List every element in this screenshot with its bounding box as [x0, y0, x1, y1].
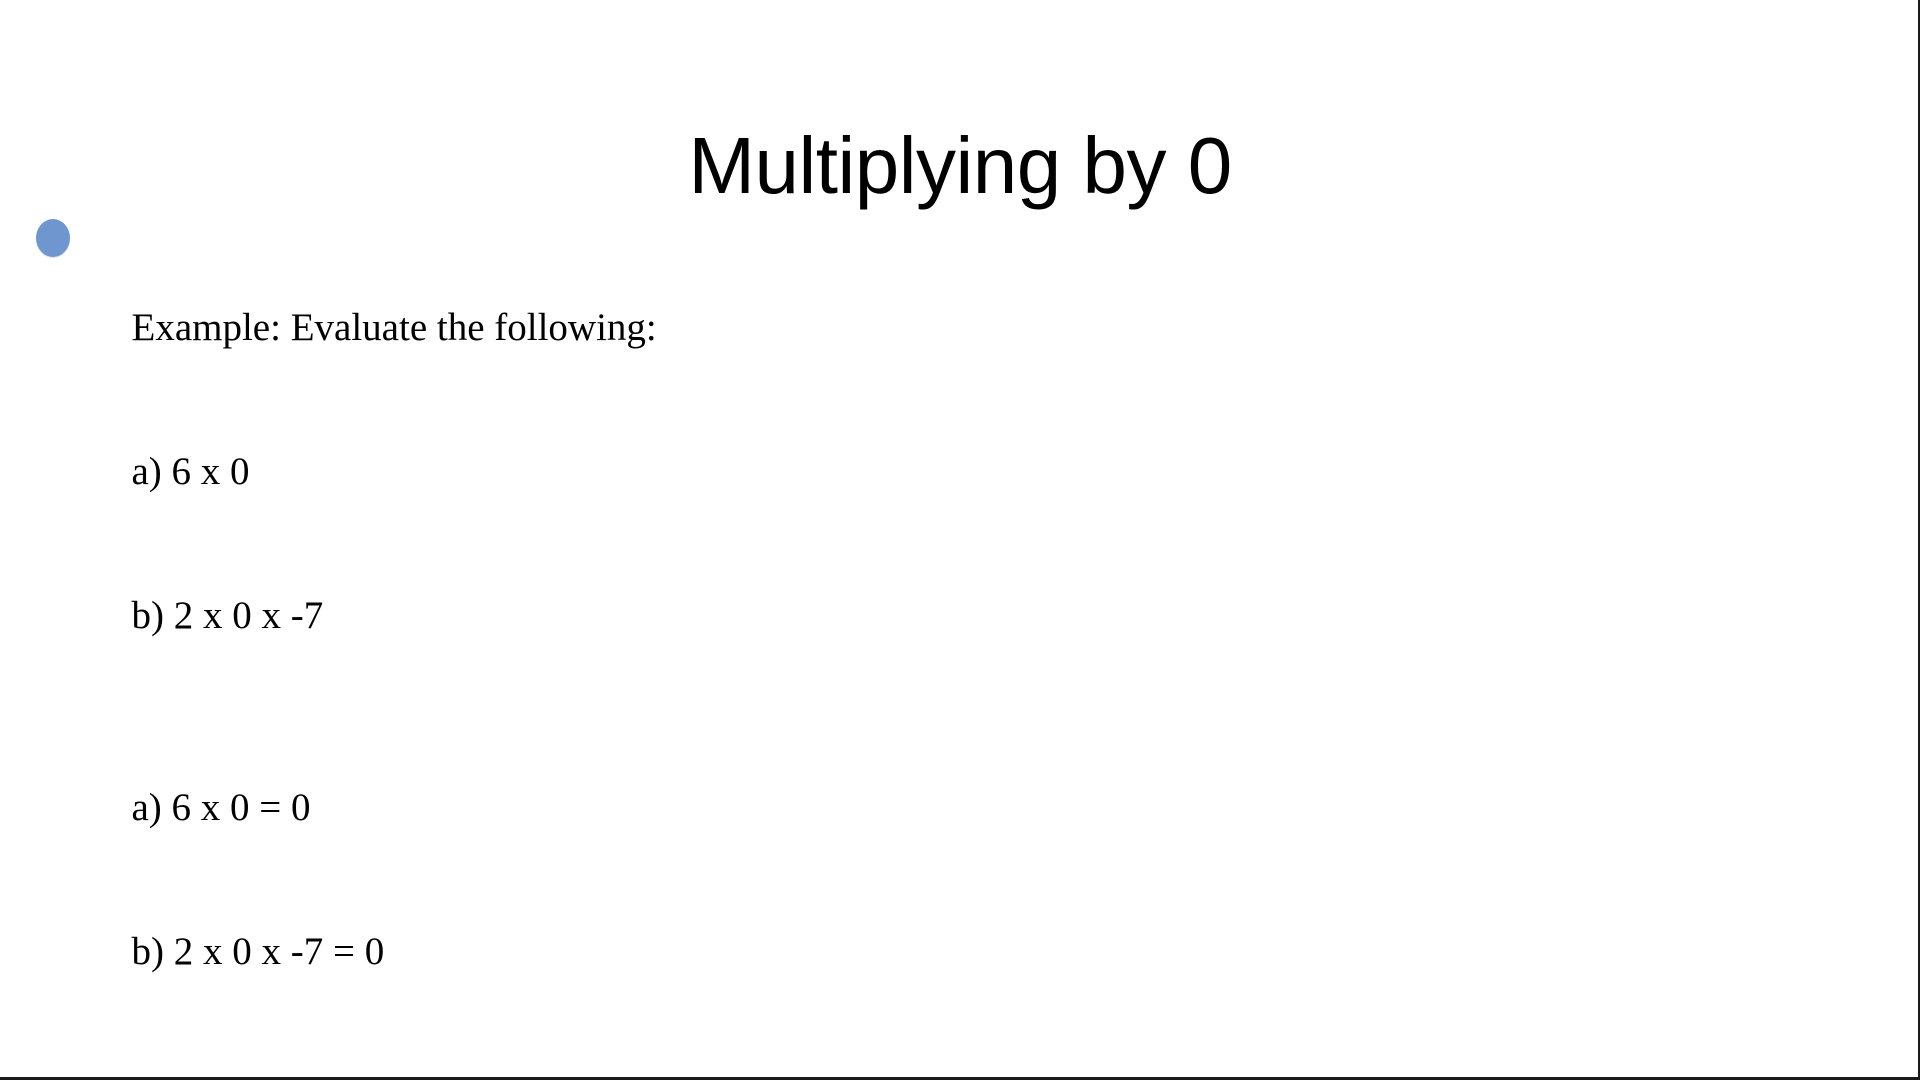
body-line-text: a) 6 x 0 = 0 [132, 784, 311, 832]
body-line-bulleted[interactable]: Example: Evaluate the following: [18, 208, 1858, 400]
body-line-question-a[interactable]: a) 6 x 0 [18, 400, 1858, 544]
body-line-conclusion[interactable]: Anything multiplied by 0 will always giv… [18, 1072, 1858, 1080]
presentation-slide: Multiplying by 0 Example: Evaluate the f… [0, 0, 1920, 1080]
body-line-answer-b[interactable]: b) 2 x 0 x -7 = 0 [18, 880, 1858, 1024]
body-line-question-b[interactable]: b) 2 x 0 x -7 [18, 544, 1858, 688]
body-line-text: b) 2 x 0 x -7 [132, 592, 324, 640]
body-line-text: Example: Evaluate the following: [132, 304, 657, 352]
page-title: Multiplying by 0 [688, 126, 1231, 206]
body-line-answer-a[interactable]: a) 6 x 0 = 0 [18, 736, 1858, 880]
body-line-text: b) 2 x 0 x -7 = 0 [132, 928, 385, 976]
body-line-text: a) 6 x 0 [132, 448, 250, 496]
bullet-oval-icon [36, 219, 70, 257]
body-line-blank [18, 688, 1858, 736]
slide-body-placeholder[interactable]: Example: Evaluate the following: a) 6 x … [18, 208, 1858, 1080]
body-line-blank [18, 1024, 1858, 1072]
